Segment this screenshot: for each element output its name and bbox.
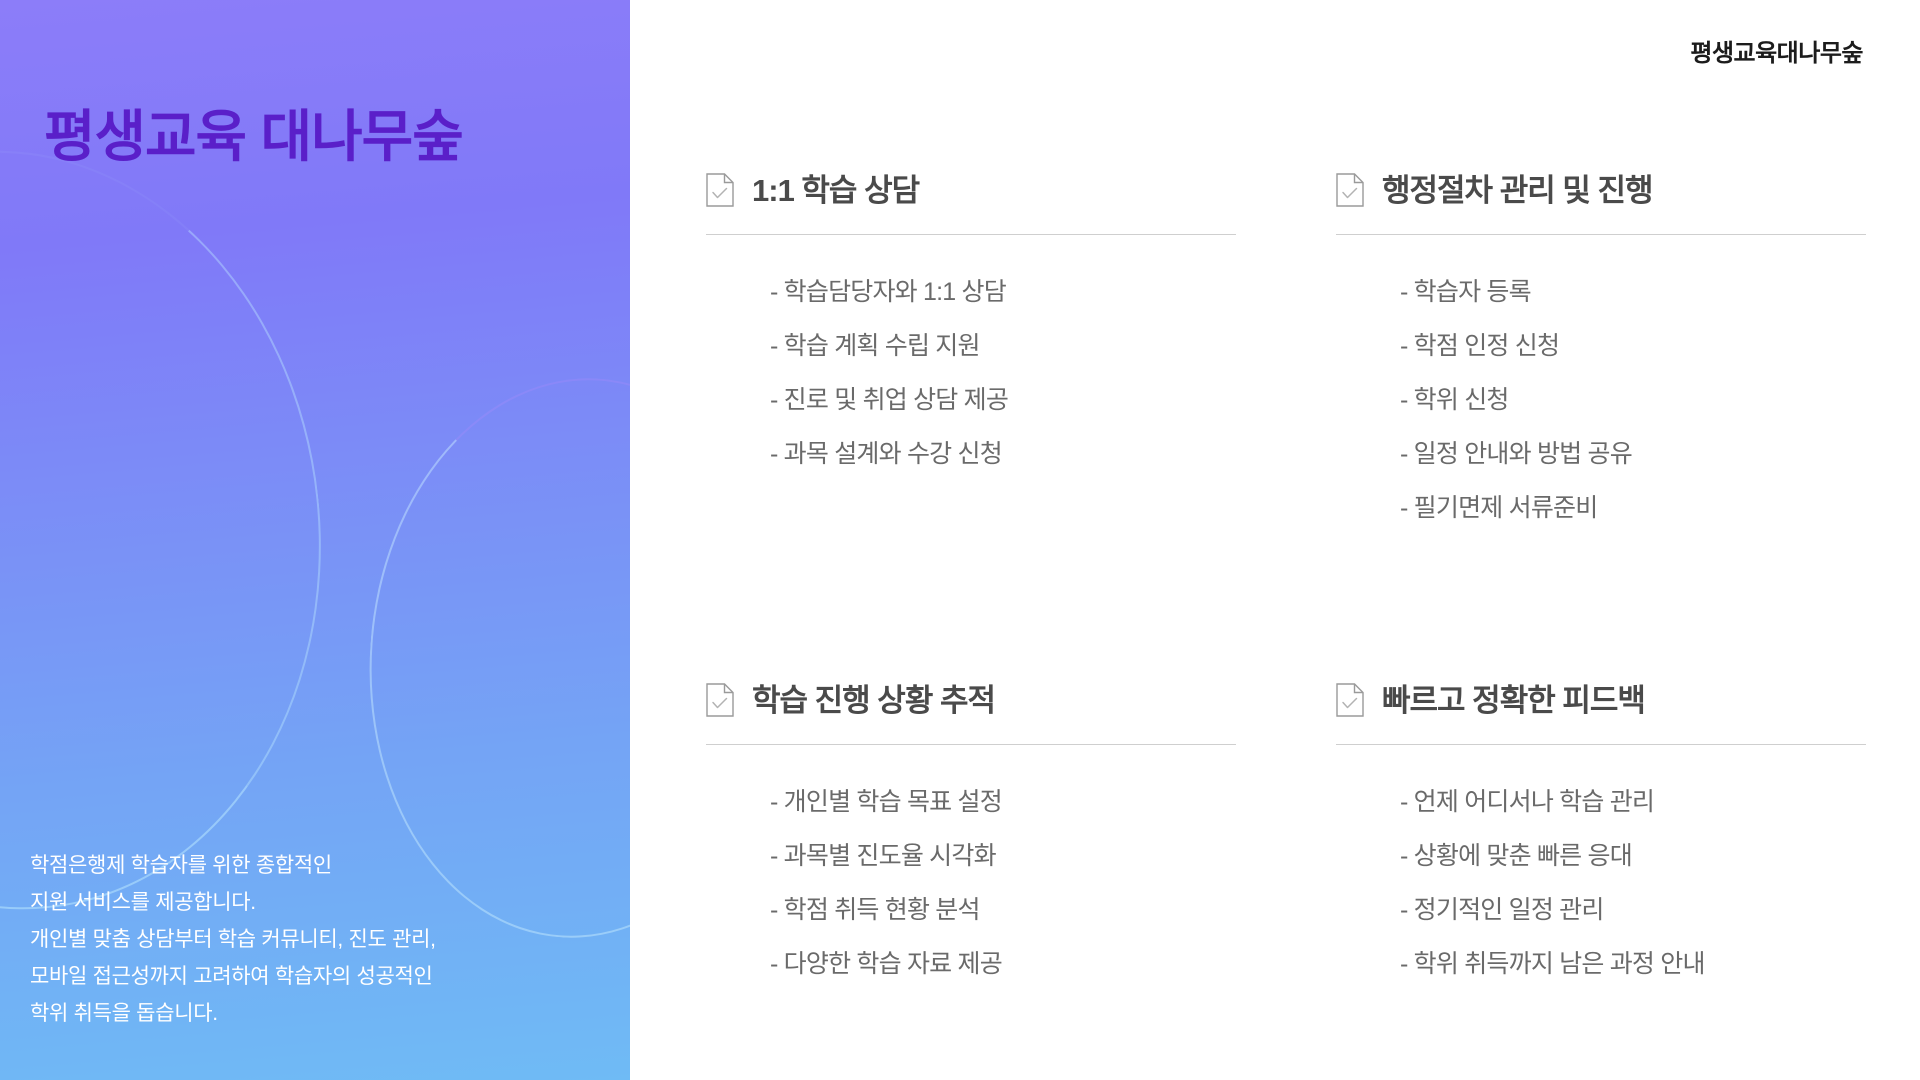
card-header: 학습 진행 상황 추적 <box>706 673 1236 727</box>
bullet-item: - 과목별 진도율 시각화 <box>770 829 1236 883</box>
card-divider <box>706 234 1236 235</box>
bullet-item: - 과목 설계와 수강 신청 <box>770 427 1236 481</box>
bullet-item: - 다양한 학습 자료 제공 <box>770 937 1236 991</box>
bullet-item: - 진로 및 취업 상담 제공 <box>770 373 1236 427</box>
description-line: 개인별 맞춤 상담부터 학습 커뮤니티, 진도 관리, <box>30 921 436 958</box>
card-bullet-list: - 언제 어디서나 학습 관리 - 상황에 맞춘 빠른 응대 - 정기적인 일정… <box>1336 775 1866 991</box>
brand-title: 평생교육 대나무숲 <box>44 92 463 173</box>
description-line: 학위 취득을 돕습니다. <box>30 995 436 1032</box>
bullet-item: - 학점 인정 신청 <box>1400 319 1866 373</box>
decorative-arc-upper <box>0 120 358 941</box>
feature-card-3: 학습 진행 상황 추적 - 개인별 학습 목표 설정 - 과목별 진도율 시각화… <box>706 673 1236 991</box>
card-bullet-list: - 학습자 등록 - 학점 인정 신청 - 학위 신청 - 일정 안내와 방법 … <box>1336 265 1866 535</box>
feature-card-1: 1:1 학습 상담 - 학습담당자와 1:1 상담 - 학습 계획 수립 지원 … <box>706 163 1236 535</box>
bullet-item: - 상황에 맞춘 빠른 응대 <box>1400 829 1866 883</box>
bullet-item: - 학습담당자와 1:1 상담 <box>770 265 1236 319</box>
slide-root: 평생교육 대나무숲 학점은행제 학습자를 위한 종합적인 지원 서비스를 제공합… <box>0 0 1920 1080</box>
description-line: 학점은행제 학습자를 위한 종합적인 <box>30 847 436 884</box>
card-divider <box>1336 744 1866 745</box>
corner-brand-label: 평생교육대나무숲 <box>1690 33 1863 68</box>
bullet-item: - 학습자 등록 <box>1400 265 1866 319</box>
card-bullet-list: - 학습담당자와 1:1 상담 - 학습 계획 수립 지원 - 진로 및 취업 … <box>706 265 1236 481</box>
bullet-item: - 필기면제 서류준비 <box>1400 481 1866 535</box>
card-title: 학습 진행 상황 추적 <box>752 685 995 716</box>
card-title: 1:1 학습 상담 <box>752 175 919 206</box>
feature-card-grid: 1:1 학습 상담 - 학습담당자와 1:1 상담 - 학습 계획 수립 지원 … <box>706 163 1866 991</box>
description-line: 지원 서비스를 제공합니다. <box>30 884 436 921</box>
left-description: 학점은행제 학습자를 위한 종합적인 지원 서비스를 제공합니다. 개인별 맞춤… <box>30 847 436 1032</box>
bullet-item: - 학습 계획 수립 지원 <box>770 319 1236 373</box>
bullet-item: - 학위 취득까지 남은 과정 안내 <box>1400 937 1866 991</box>
document-check-icon <box>706 173 734 207</box>
document-check-icon <box>1336 173 1364 207</box>
feature-card-2: 행정절차 관리 및 진행 - 학습자 등록 - 학점 인정 신청 - 학위 신청… <box>1336 163 1866 535</box>
card-bullet-list: - 개인별 학습 목표 설정 - 과목별 진도율 시각화 - 학점 취득 현황 … <box>706 775 1236 991</box>
card-title: 빠르고 정확한 피드백 <box>1382 685 1645 716</box>
bullet-item: - 개인별 학습 목표 설정 <box>770 775 1236 829</box>
document-check-icon <box>1336 683 1364 717</box>
bullet-item: - 학위 신청 <box>1400 373 1866 427</box>
bullet-item: - 언제 어디서나 학습 관리 <box>1400 775 1866 829</box>
card-divider <box>1336 234 1866 235</box>
card-header: 행정절차 관리 및 진행 <box>1336 163 1866 217</box>
left-gradient-panel: 평생교육 대나무숲 학점은행제 학습자를 위한 종합적인 지원 서비스를 제공합… <box>0 0 630 1080</box>
document-check-icon <box>706 683 734 717</box>
bullet-item: - 학점 취득 현황 분석 <box>770 883 1236 937</box>
card-divider <box>706 744 1236 745</box>
bullet-item: - 일정 안내와 방법 공유 <box>1400 427 1866 481</box>
feature-card-4: 빠르고 정확한 피드백 - 언제 어디서나 학습 관리 - 상황에 맞춘 빠른 … <box>1336 673 1866 991</box>
card-title: 행정절차 관리 및 진행 <box>1382 175 1653 206</box>
card-header: 1:1 학습 상담 <box>706 163 1236 217</box>
bullet-item: - 정기적인 일정 관리 <box>1400 883 1866 937</box>
description-line: 모바일 접근성까지 고려하여 학습자의 성공적인 <box>30 958 436 995</box>
card-header: 빠르고 정확한 피드백 <box>1336 673 1866 727</box>
